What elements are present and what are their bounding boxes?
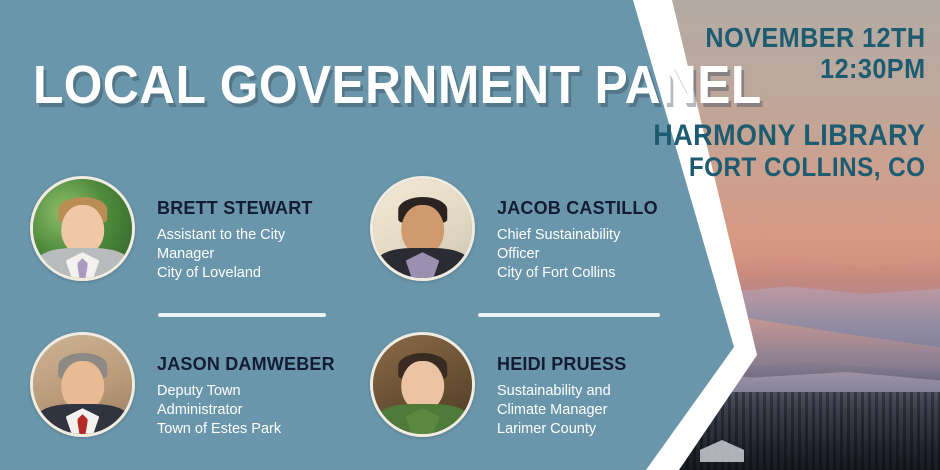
panelist-row-2: Jason Damweber Deputy Town Administrator… bbox=[0, 332, 680, 439]
avatar bbox=[30, 176, 135, 281]
panelist-org: Town of Estes Park bbox=[157, 420, 335, 439]
event-date: November 12th bbox=[654, 22, 926, 53]
panelist-role: Chief Sustainability Officer City of For… bbox=[497, 226, 658, 283]
panelist-role-line: Climate Manager bbox=[497, 401, 626, 420]
avatar bbox=[30, 332, 135, 437]
panelist-role: Assistant to the City Manager City of Lo… bbox=[157, 226, 313, 283]
avatar bbox=[370, 332, 475, 437]
panelist-card: Heidi Pruess Sustainability and Climate … bbox=[335, 332, 670, 439]
avatar bbox=[370, 176, 475, 281]
event-datetime: November 12th 12:30pm bbox=[654, 22, 926, 85]
panelist-role-line: Sustainability and bbox=[497, 382, 626, 401]
panelist-name: Brett Stewart bbox=[157, 198, 313, 219]
panelist-grid: Brett Stewart Assistant to the City Mana… bbox=[0, 176, 680, 439]
panelist-role-line: Deputy Town bbox=[157, 382, 335, 401]
panelist-role-line: Administrator bbox=[157, 401, 335, 420]
panelist-role: Deputy Town Administrator Town of Estes … bbox=[157, 382, 335, 439]
event-time: 12:30pm bbox=[654, 53, 926, 84]
panelist-role: Sustainability and Climate Manager Larim… bbox=[497, 382, 626, 439]
event-flyer: Local Government Panel November 12th 12:… bbox=[0, 0, 940, 470]
panelist-name: Heidi Pruess bbox=[497, 354, 626, 375]
panelist-card: Brett Stewart Assistant to the City Mana… bbox=[0, 176, 335, 283]
panelist-name: Jacob Castillo bbox=[497, 198, 658, 219]
panelist-row-1: Brett Stewart Assistant to the City Mana… bbox=[0, 176, 680, 283]
panelist-name: Jason Damweber bbox=[157, 354, 335, 375]
event-location: Harmony Library Fort Collins, CO bbox=[654, 119, 926, 183]
event-venue: Harmony Library bbox=[654, 119, 926, 153]
event-details: November 12th 12:30pm Harmony Library Fo… bbox=[623, 22, 926, 183]
divider bbox=[158, 313, 326, 317]
panelist-card: Jacob Castillo Chief Sustainability Offi… bbox=[335, 176, 670, 283]
panelist-card: Jason Damweber Deputy Town Administrator… bbox=[0, 332, 335, 439]
panelist-org: Larimer County bbox=[497, 420, 626, 439]
event-city-state: Fort Collins, CO bbox=[654, 152, 926, 182]
panelist-role-line: Officer bbox=[497, 245, 658, 264]
panelist-org: City of Loveland bbox=[157, 264, 313, 283]
panelist-role-line: Manager bbox=[157, 245, 313, 264]
panelist-role-line: Assistant to the City bbox=[157, 226, 313, 245]
panelist-role-line: Chief Sustainability bbox=[497, 226, 658, 245]
panelist-org: City of Fort Collins bbox=[497, 264, 658, 283]
divider bbox=[478, 313, 660, 317]
